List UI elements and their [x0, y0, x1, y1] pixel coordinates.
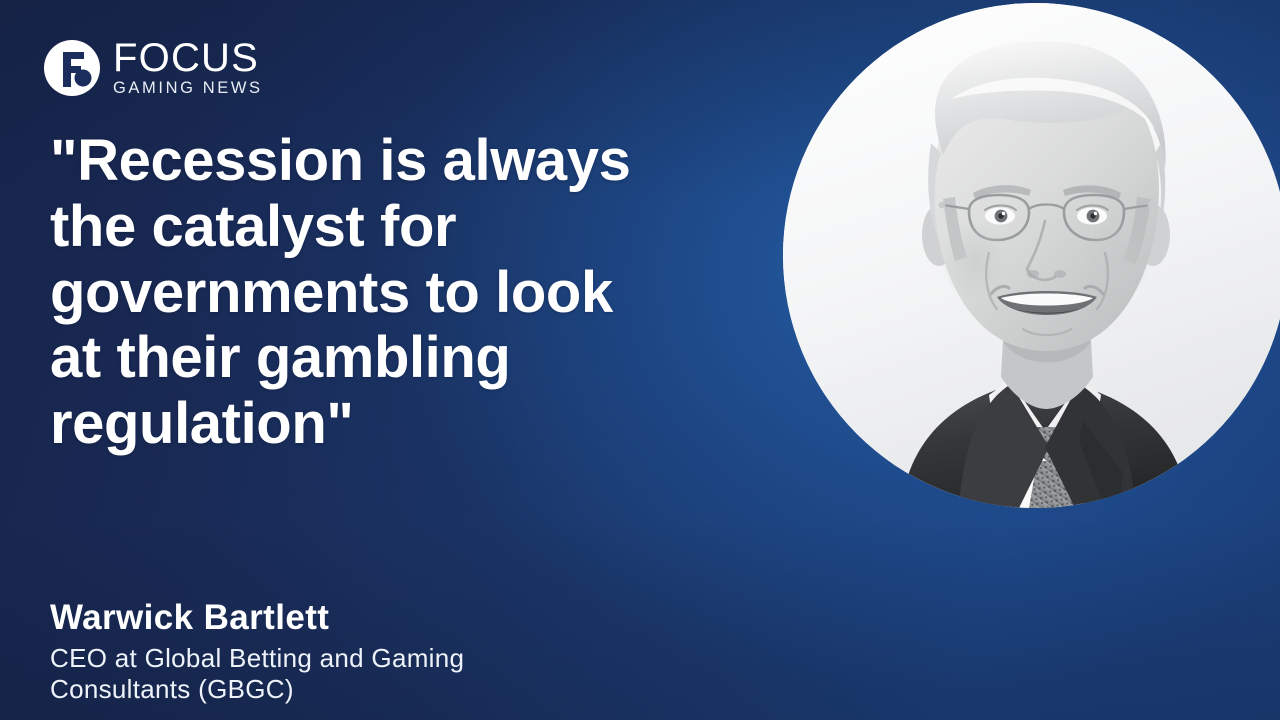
- brand-title: FOCUS: [113, 40, 263, 77]
- brand-logo[interactable]: FOCUS GAMING NEWS: [44, 38, 263, 98]
- brand-subtitle: GAMING NEWS: [113, 79, 263, 98]
- focus-f-monogram-icon: [44, 40, 100, 96]
- quote-card: FOCUS GAMING NEWS "Recession is always t…: [0, 0, 1280, 720]
- brand-wordmark: FOCUS GAMING NEWS: [113, 38, 263, 98]
- speaker-portrait: [783, 3, 1280, 508]
- speaker-role: CEO at Global Betting and Gaming Consult…: [50, 643, 750, 706]
- quote-text: "Recession is always the catalyst for go…: [50, 128, 775, 457]
- attribution: Warwick Bartlett CEO at Global Betting a…: [50, 597, 750, 706]
- speaker-name: Warwick Bartlett: [50, 597, 750, 639]
